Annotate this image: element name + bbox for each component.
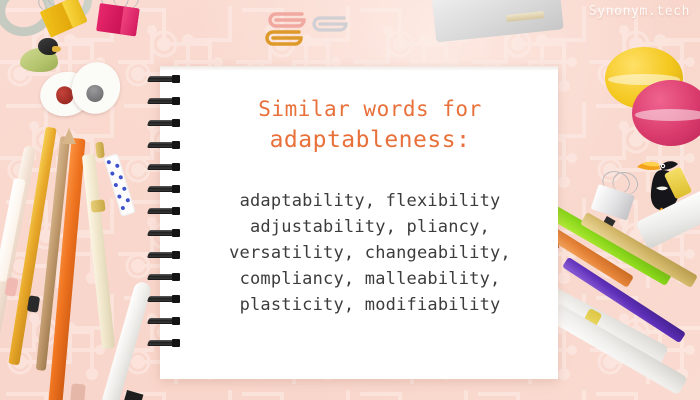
- spiral-ring: [148, 208, 178, 214]
- synonym-line: adaptability, flexibility: [229, 188, 511, 214]
- pen-cream-gold-clicker: [95, 142, 105, 159]
- bird-eraser-green: [18, 38, 60, 72]
- spiral-ring: [148, 76, 178, 82]
- page-content: Similar words for adaptableness: adaptab…: [182, 66, 558, 379]
- pencil-orange-eraser: [70, 383, 86, 400]
- spiral-ring: [148, 296, 178, 302]
- notebook-spiral-binding: [148, 70, 182, 370]
- spiral-ring: [148, 186, 178, 192]
- synonym-list: adaptability, flexibility adjustability,…: [229, 188, 511, 318]
- pen-clear-grip: [4, 277, 18, 297]
- macaron-pink: [632, 80, 700, 146]
- synonym-line: compliancy, malleability,: [229, 266, 511, 292]
- spiral-ring: [148, 142, 178, 148]
- spiral-ring: [148, 340, 178, 346]
- site-logo-watermark: Synonym.tech: [589, 4, 690, 19]
- paint-tube-white: [635, 188, 700, 249]
- spiral-ring: [148, 120, 178, 126]
- paperclip-silver: [312, 14, 356, 34]
- crayon-and-marker-bundle: [556, 196, 700, 400]
- pen-and-pencil-bundle: [0, 120, 160, 400]
- marker-white-cap: [122, 390, 144, 400]
- spiral-ring: [148, 274, 178, 280]
- synonym-line: adjustability, pliancy,: [229, 214, 511, 240]
- spiral-ring: [148, 230, 178, 236]
- pencil-orange-tip: [62, 128, 76, 144]
- synonym-line: versatility, changeability,: [229, 240, 511, 266]
- polka-dot-pattern: [103, 153, 135, 217]
- pen-cream-gold-band: [90, 199, 105, 212]
- spiral-ring: [148, 318, 178, 324]
- clip-body-fold: [120, 6, 140, 36]
- heading-line-2: adaptableness:: [270, 124, 471, 156]
- heading-line-1: Similar words for: [258, 94, 481, 124]
- paperclip-pink: [268, 10, 314, 30]
- spiral-ring: [148, 98, 178, 104]
- spiral-ring: [148, 164, 178, 170]
- pencil-yellow-ferrule: [27, 295, 40, 313]
- screenshot-root: Similar words for adaptableness: adaptab…: [0, 0, 700, 400]
- binder-clip-pink: [96, 0, 144, 39]
- spiral-ring: [148, 252, 178, 258]
- paperclip-orange: [265, 28, 311, 48]
- synonym-line: plasticity, modifiability: [229, 292, 511, 318]
